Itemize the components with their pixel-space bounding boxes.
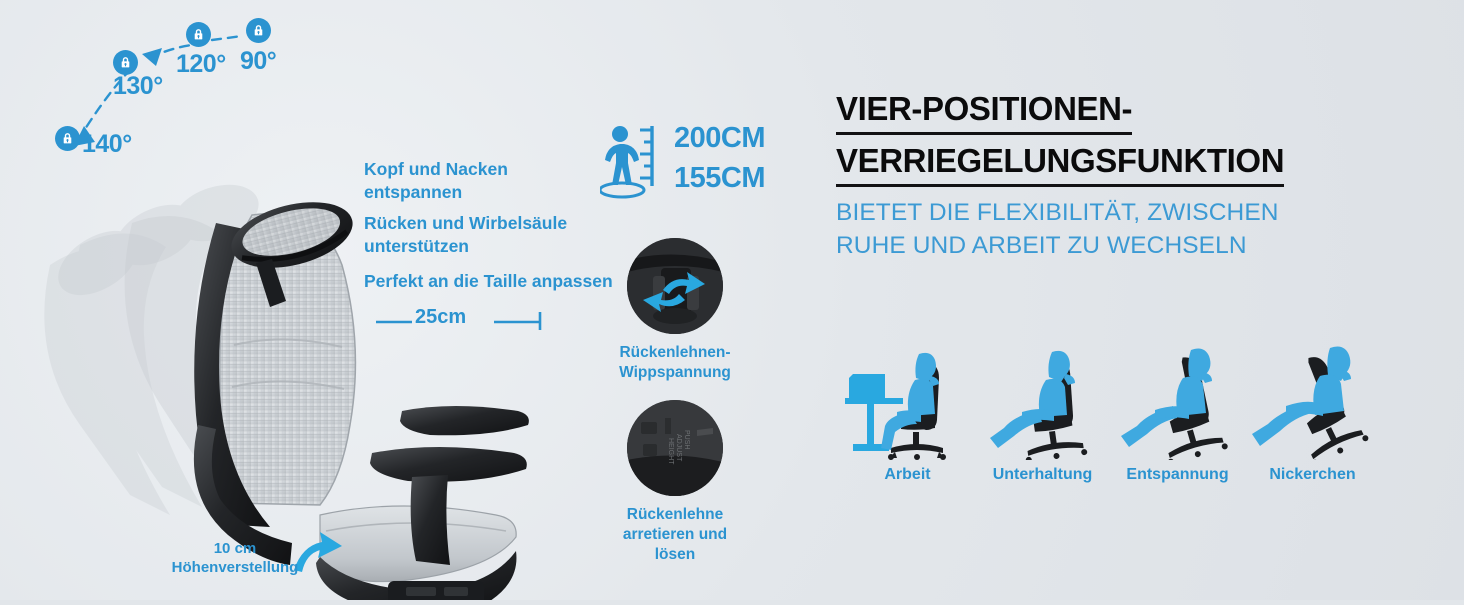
feature-inset-lock: PUSH ADJUST HEIGHT Rückenlehne arretiere… (585, 400, 765, 565)
posture-label-work: Arbeit (840, 466, 975, 484)
lock-lever-icon: PUSH ADJUST HEIGHT (627, 400, 723, 496)
posture-item-nap: Nickerchen (1245, 340, 1380, 505)
posture-label-relax: Entspannung (1110, 466, 1245, 484)
user-height-range: 200CM 155CM (600, 120, 800, 205)
benefit-text-3: Perfekt an die Taille anpassen (364, 270, 613, 293)
svg-text:PUSH: PUSH (683, 430, 690, 449)
height-min-label: 155CM (674, 162, 765, 195)
angle-label-90: 90° (240, 47, 276, 76)
recline-angle-diagram: 140° 130° 120° 90° (0, 0, 340, 200)
posture-row: Arbeit (840, 340, 1380, 505)
page-title: VIER-POSITIONEN- VERRIEGELUNGSFUNKTION (836, 88, 1416, 187)
posture-item-chat: Unterhaltung (975, 340, 1110, 505)
lock-icon-90 (246, 18, 271, 43)
angle-arc-svg (0, 0, 340, 200)
page-subtitle: BIETET DIE FLEXIBILITÄT, ZWISCHEN RUHE U… (836, 197, 1356, 262)
svg-text:HEIGHT: HEIGHT (667, 438, 674, 465)
headline-line-1: VIER-POSITIONEN- (836, 88, 1132, 135)
posture-item-work: Arbeit (840, 340, 975, 505)
headline-line-2: VERRIEGELUNGSFUNKTION (836, 140, 1284, 187)
posture-label-nap: Nickerchen (1245, 466, 1380, 484)
benefit-text-1: Kopf und Nacken entspannen (364, 158, 508, 204)
height-adjust-label: 10 cm Höhenverstellung (160, 540, 310, 578)
lock-icon-120 (186, 22, 211, 47)
height-max-label: 200CM (674, 122, 765, 155)
angle-label-130: 130° (113, 72, 163, 101)
angle-label-120: 120° (176, 50, 226, 79)
benefit-text-2: Rücken und Wirbelsäule unterstützen (364, 212, 567, 258)
infographic-canvas: 140° 130° 120° 90° Kopf und Nacken entsp… (0, 0, 1464, 600)
posture-item-relax: Entspannung (1110, 340, 1245, 505)
armrest-width-label: 25cm (415, 306, 466, 329)
svg-text:ADJUST: ADJUST (675, 434, 682, 462)
inset-caption-lock: Rückenlehne arretieren und lösen (585, 505, 765, 565)
tension-knob-icon (627, 238, 723, 334)
angle-label-140: 140° (82, 130, 132, 159)
lock-icon-140 (55, 126, 80, 151)
person-height-icon (600, 120, 670, 200)
posture-label-chat: Unterhaltung (975, 466, 1110, 484)
feature-inset-tension: Rückenlehnen- Wippspannung (585, 238, 765, 383)
inset-caption-tension: Rückenlehnen- Wippspannung (585, 343, 765, 383)
